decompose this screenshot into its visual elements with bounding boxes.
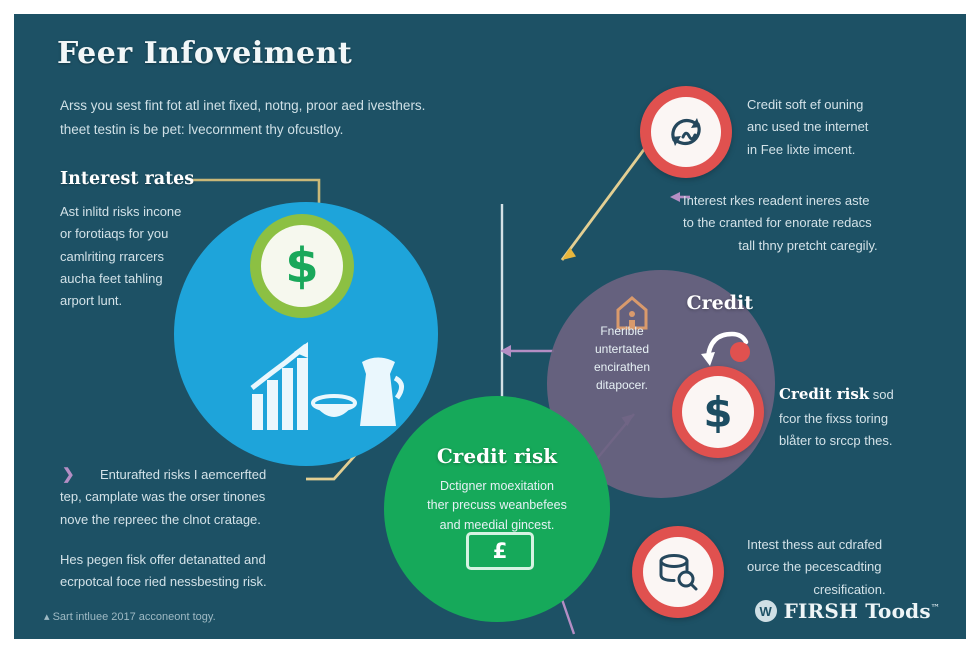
right-block-3: Credit risk sod fcor the fixss toring bl… <box>779 382 966 453</box>
left-note2-line-2: ecrpotcal foce ried nessbesting risk. <box>60 571 360 593</box>
database-badge-inner <box>643 537 713 607</box>
red-dot-icon <box>730 342 750 362</box>
credit-circle-body: Fnerible untertated encirathen ditapocer… <box>547 322 697 394</box>
arrowhead-refresh-to-purple <box>562 248 576 261</box>
right-b3-heading-row: Credit risk sod <box>779 382 966 408</box>
dollar-badge-icon: $ <box>250 214 354 318</box>
left-note-1: Enturafted risks I aemcerfted tep, campl… <box>60 464 350 531</box>
credit-body-line-4: ditapocer. <box>547 376 697 394</box>
page-subtitle: Arss you sest fint fot atl inet fixed, n… <box>60 94 530 141</box>
svg-text:$: $ <box>285 238 318 294</box>
refresh-cycle-badge[interactable] <box>640 86 732 178</box>
right-b3-line-1: fcor the fixss toring <box>779 408 966 430</box>
right-block-2: Interest rkes readent ineres aste to the… <box>683 190 933 257</box>
right-b1-line-1: Credit soft ef ouning <box>747 94 947 116</box>
credit-circle-title: Credit <box>547 292 775 314</box>
pound-symbol: £ <box>493 539 508 563</box>
infographic-canvas: Feer Infoveiment Arss you sest fint fot … <box>0 0 980 653</box>
credit-risk-body-line-2: ther precuss weanbefees <box>384 496 610 515</box>
right-block-4: Intest thess aut cdrafed ource the peces… <box>747 534 952 601</box>
logo-name: FIRSH Toods <box>784 599 931 623</box>
right-block-1: Credit soft ef ouning anc used tne inter… <box>747 94 947 161</box>
refresh-icon <box>664 110 708 154</box>
pound-banknote-icon: £ <box>466 532 534 570</box>
right-b2-line-1: Interest rkes readent ineres aste <box>683 190 933 212</box>
page-title: Feer Infoveiment <box>57 36 352 71</box>
connector-refresh-to-purple <box>562 136 654 260</box>
right-b2-line-3: tall thny pretcht caregily. <box>683 235 933 257</box>
bar-chart-icon <box>252 342 308 430</box>
credit-body-line-3: encirathen <box>547 358 697 376</box>
left-note-2: Hes pegen fisk offer detanatted and ecrp… <box>60 549 360 594</box>
left-note1-line-1: Enturafted risks I aemcerfted <box>60 464 350 486</box>
dollar-badge[interactable]: $ <box>672 366 764 458</box>
interest-rates-body: Ast inlitd risks incone or forotiaqs for… <box>60 201 240 313</box>
subtitle-line-1: Arss you sest fint fot atl inet fixed, n… <box>60 94 530 118</box>
dollar-sign-icon: $ <box>276 238 328 294</box>
right-b4-line-2: ource the pecescadting <box>747 556 952 578</box>
right-b1-line-2: anc used tne internet <box>747 116 947 138</box>
dollar-badge-inner: $ <box>261 225 343 307</box>
subtitle-line-2: theet testin is be pet: lvecornment thy … <box>60 118 530 142</box>
left-body-line-5: arport lunt. <box>60 290 240 312</box>
trademark-symbol: ™ <box>931 603 940 613</box>
database-search-icon <box>655 550 701 594</box>
left-body-line-3: camlriting rrarcers <box>60 246 240 268</box>
left-note1-line-2: tep, camplate was the orser tinones <box>60 486 350 508</box>
dollar-badge-inner-2: $ <box>682 376 754 448</box>
credit-body-line-2: untertated <box>547 340 697 358</box>
right-b3-line-2: blåter to srccp thes. <box>779 430 966 452</box>
arrowhead-purple-to-divider <box>500 345 511 357</box>
logo-text: FIRSH Toods™ <box>784 599 940 623</box>
credit-risk-circle-body: Dctigner moexitation ther precuss weanbe… <box>384 477 610 535</box>
curved-arrow-icon <box>698 324 754 370</box>
brand-logo: W FIRSH Toods™ <box>755 599 940 623</box>
blue-circle-icon-group <box>250 332 410 442</box>
credit-risk-heading-tail: sod <box>869 387 894 402</box>
interest-rates-heading: Interest rates <box>60 169 194 189</box>
left-note1-line-3: nove the repreec the clnot cratage. <box>60 509 350 531</box>
right-b1-line-3: in Fee lixte imcent. <box>747 139 947 161</box>
credit-risk-circle-title: Credit risk <box>384 444 610 468</box>
right-b2-line-2: to the cranted for enorate redacs <box>683 212 933 234</box>
right-b4-line-1: Intest thess aut cdrafed <box>747 534 952 556</box>
credit-risk-heading: Credit risk <box>779 385 869 403</box>
credit-body-line-1: Fnerible <box>547 322 697 340</box>
dollar-glyph: $ <box>703 388 732 437</box>
footnote: ▴ Sart intluee 2017 acconeont togy. <box>44 610 216 623</box>
dollar-icon: $ <box>695 387 741 437</box>
credit-risk-body-line-1: Dctigner moexitation <box>384 477 610 496</box>
left-note2-line-1: Hes pegen fisk offer detanatted and <box>60 549 360 571</box>
database-search-badge[interactable] <box>632 526 724 618</box>
bowl-icon <box>313 396 355 417</box>
refresh-badge-inner <box>651 97 721 167</box>
left-body-line-1: Ast inlitd risks incone <box>60 201 240 223</box>
infographic-panel: Feer Infoveiment Arss you sest fint fot … <box>14 14 966 639</box>
pitcher-icon <box>360 358 402 427</box>
arrowhead-block2-marker <box>670 192 680 202</box>
right-b4-line-3: cresification. <box>747 579 952 601</box>
left-body-line-2: or forotiaqs for you <box>60 223 240 245</box>
left-body-line-4: aucha feet tahling <box>60 268 240 290</box>
logo-mark-icon: W <box>755 600 777 622</box>
